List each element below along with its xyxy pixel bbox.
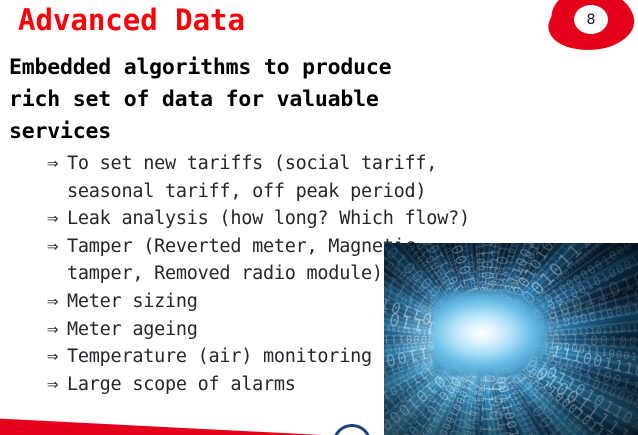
list-item-label: To set new tariffs (social tariff, (67, 153, 437, 174)
binary-digits-layer: 1011100100111010111010110001000011100010… (384, 243, 638, 435)
page-number-text: 8 (587, 13, 596, 27)
headline-line-1: Embedded algorithms to produce (9, 52, 549, 84)
double-arrow-icon: ⇒ (47, 316, 67, 344)
list-item-label: Leak analysis (how long? Which flow?) (67, 208, 470, 229)
list-item-continuation: seasonal tariff, off peak period) (47, 178, 638, 206)
binary-tunnel-image: 1011100100111010111010110001000011100010… (384, 243, 638, 435)
list-item: ⇒To set new tariffs (social tariff, (47, 150, 638, 178)
list-item-label: Tamper (Reverted meter, Magnetic (67, 236, 415, 257)
page-title: Advanced Data (18, 1, 245, 39)
double-arrow-icon: ⇒ (47, 150, 67, 178)
list-item-label: Temperature (air) monitoring (67, 346, 372, 367)
double-arrow-icon: ⇒ (47, 288, 67, 316)
double-arrow-icon: ⇒ (47, 233, 67, 261)
page-number-badge: 8 (548, 0, 634, 50)
double-arrow-icon: ⇒ (47, 371, 67, 399)
red-swoosh-decoration (0, 414, 324, 435)
headline-line-3: services (9, 116, 549, 148)
headline-block: Embedded algorithms to produce rich set … (9, 52, 549, 148)
list-item: ⇒Leak analysis (how long? Which flow?) (47, 205, 638, 233)
list-item-label: Meter sizing (67, 291, 198, 312)
badge-inner-oval: 8 (574, 5, 608, 34)
list-item-label: Large scope of alarms (67, 374, 296, 395)
slide-canvas: Advanced Data 8 Embedded algorithms to p… (0, 0, 638, 435)
double-arrow-icon: ⇒ (47, 205, 67, 233)
double-arrow-icon: ⇒ (47, 343, 67, 371)
headline-line-2: rich set of data for valuable (9, 84, 549, 116)
list-item-label: Meter ageing (67, 319, 198, 340)
blue-circle-decoration (333, 424, 371, 435)
